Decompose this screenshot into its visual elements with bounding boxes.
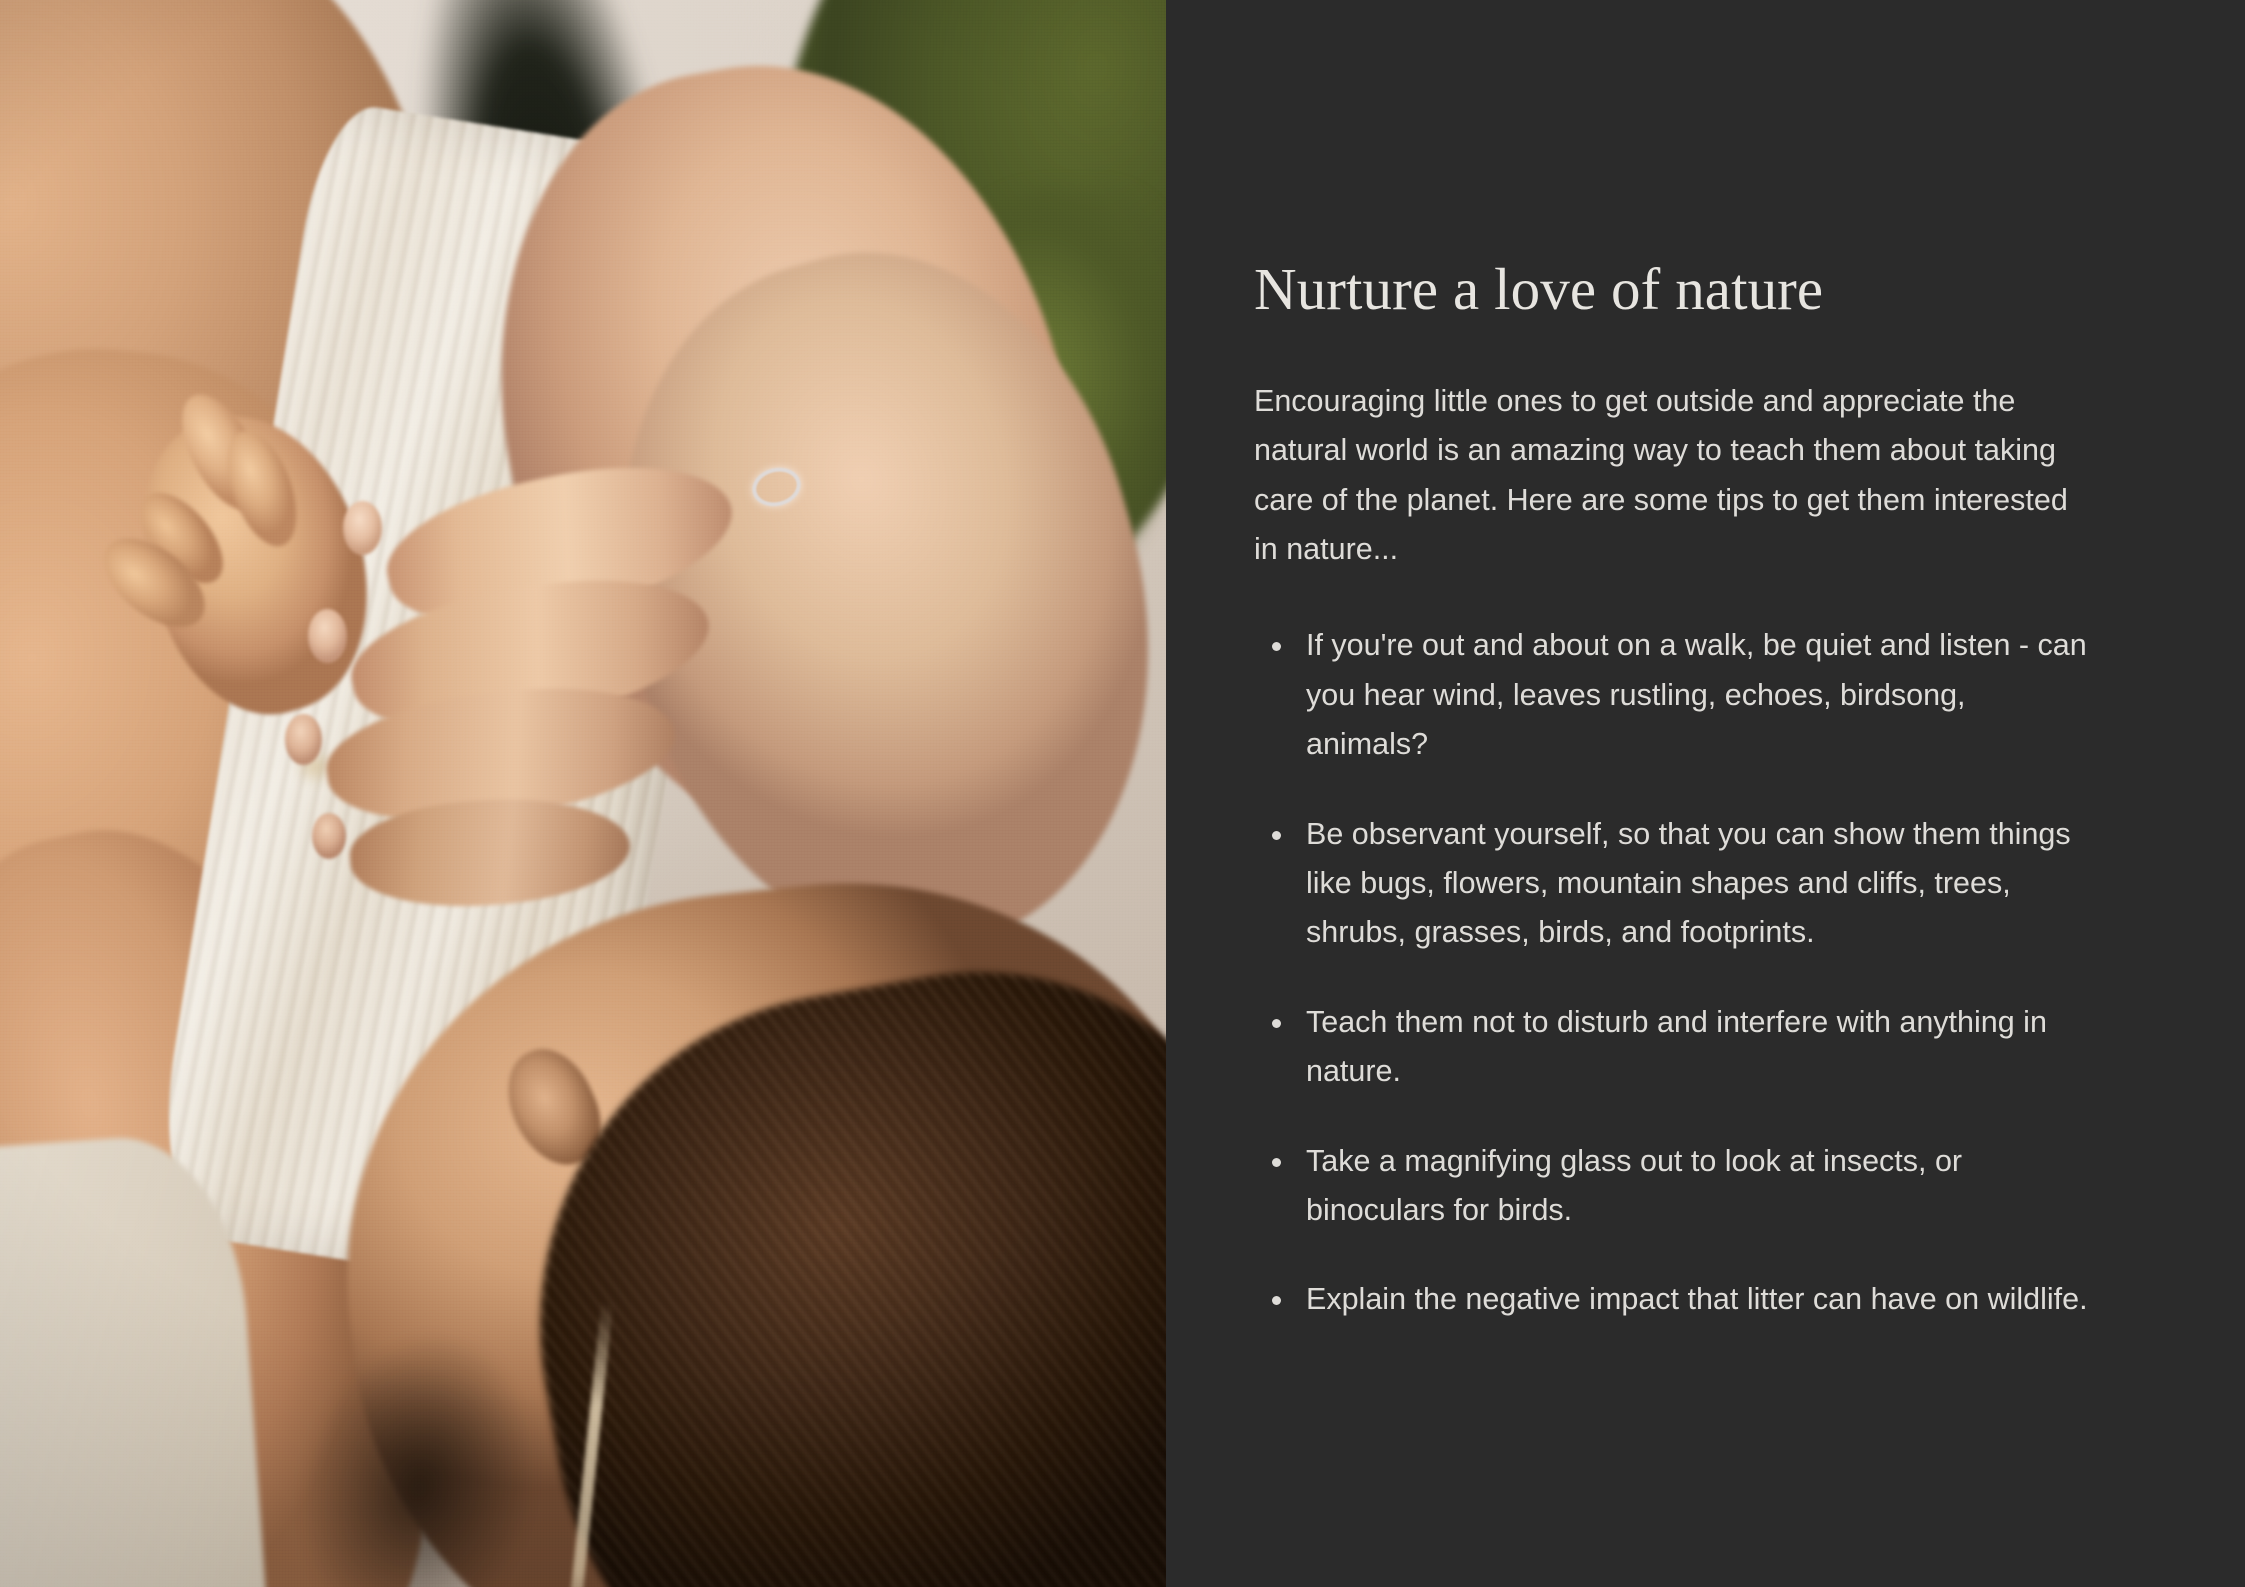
- list-item: Explain the negative impact that litter …: [1254, 1275, 2095, 1324]
- bullet-icon: [1272, 642, 1281, 651]
- list-item-text: Explain the negative impact that litter …: [1306, 1282, 2088, 1316]
- bullet-icon: [1272, 831, 1281, 840]
- page-title: Nurture a love of nature: [1254, 258, 2095, 322]
- list-item-text: Be observant yourself, so that you can s…: [1306, 817, 2071, 950]
- photo-fingernail: [285, 714, 322, 765]
- list-item-text: If you're out and about on a walk, be qu…: [1306, 628, 2087, 761]
- article-intro-paragraph: Encouraging little ones to get outside a…: [1254, 377, 2095, 575]
- list-item: Teach them not to disturb and interfere …: [1254, 998, 2095, 1097]
- article-slide: Nurture a love of nature Encouraging lit…: [0, 0, 2245, 1587]
- bullet-icon: [1272, 1019, 1281, 1028]
- list-item-text: Take a magnifying glass out to look at i…: [1306, 1144, 1962, 1227]
- list-item: Be observant yourself, so that you can s…: [1254, 810, 2095, 958]
- list-item-text: Teach them not to disturb and interfere …: [1306, 1005, 2047, 1088]
- article-photo: [0, 0, 1166, 1587]
- list-item: Take a magnifying glass out to look at i…: [1254, 1137, 2095, 1236]
- list-item: If you're out and about on a walk, be qu…: [1254, 621, 2095, 769]
- photo-fingernail: [312, 813, 346, 859]
- bullet-icon: [1272, 1296, 1281, 1305]
- bullet-icon: [1272, 1158, 1281, 1167]
- article-content: Nurture a love of nature Encouraging lit…: [1254, 258, 2095, 1325]
- article-text-pane: Nurture a love of nature Encouraging lit…: [1166, 0, 2245, 1587]
- photo-canvas: [0, 0, 1166, 1587]
- tips-list: If you're out and about on a walk, be qu…: [1254, 621, 2095, 1324]
